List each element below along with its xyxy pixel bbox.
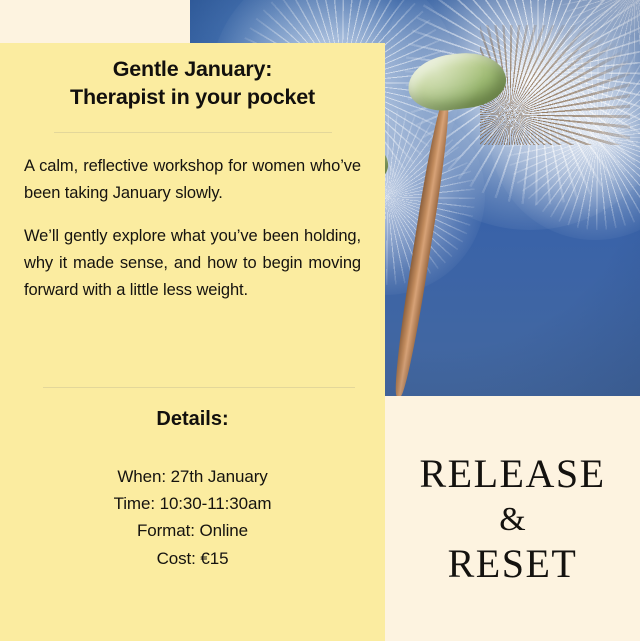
detail-time: Time: 10:30-11:30am bbox=[0, 490, 385, 517]
detail-when: When: 27th January bbox=[0, 463, 385, 490]
divider-bottom bbox=[43, 387, 355, 388]
ampersand-symbol: & bbox=[499, 503, 525, 537]
title-line-1: Gentle January: bbox=[14, 56, 371, 84]
release-reset-block: RELEASE & RESET bbox=[385, 396, 640, 641]
poster-title: Gentle January: Therapist in your pocket bbox=[0, 56, 385, 112]
reset-word: RESET bbox=[448, 544, 578, 584]
content-panel: Gentle January: Therapist in your pocket… bbox=[0, 43, 385, 641]
details-heading: Details: bbox=[0, 408, 385, 431]
body-copy: A calm, reflective workshop for women wh… bbox=[24, 153, 361, 304]
poster-canvas: Gentle January: Therapist in your pocket… bbox=[0, 0, 640, 641]
detail-format: Format: Online bbox=[0, 517, 385, 544]
title-line-2: Therapist in your pocket bbox=[14, 84, 371, 112]
divider-top bbox=[54, 132, 332, 133]
body-paragraph-1: A calm, reflective workshop for women wh… bbox=[24, 153, 361, 206]
detail-cost: Cost: €15 bbox=[0, 545, 385, 572]
body-paragraph-2: We’ll gently explore what you’ve been ho… bbox=[24, 223, 361, 303]
details-list: When: 27th January Time: 10:30-11:30am F… bbox=[0, 463, 385, 572]
release-word: RELEASE bbox=[419, 454, 605, 494]
